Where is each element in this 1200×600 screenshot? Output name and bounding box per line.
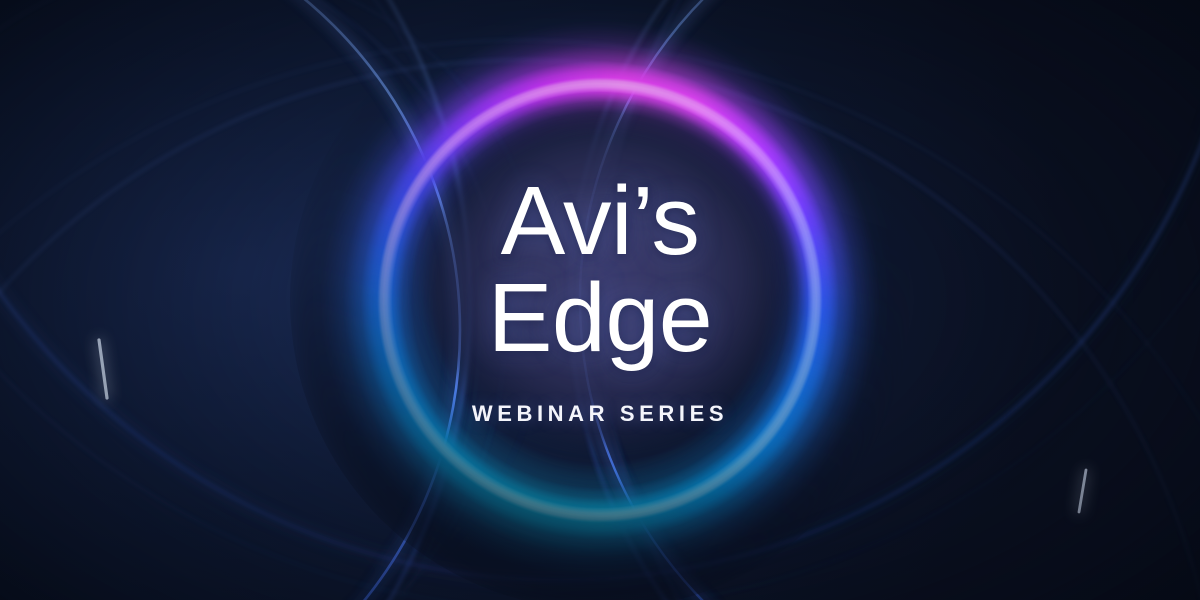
promo-banner: Avi’s Edge WEBINAR SERIES bbox=[0, 0, 1200, 600]
ring-inner-disc bbox=[400, 100, 800, 500]
